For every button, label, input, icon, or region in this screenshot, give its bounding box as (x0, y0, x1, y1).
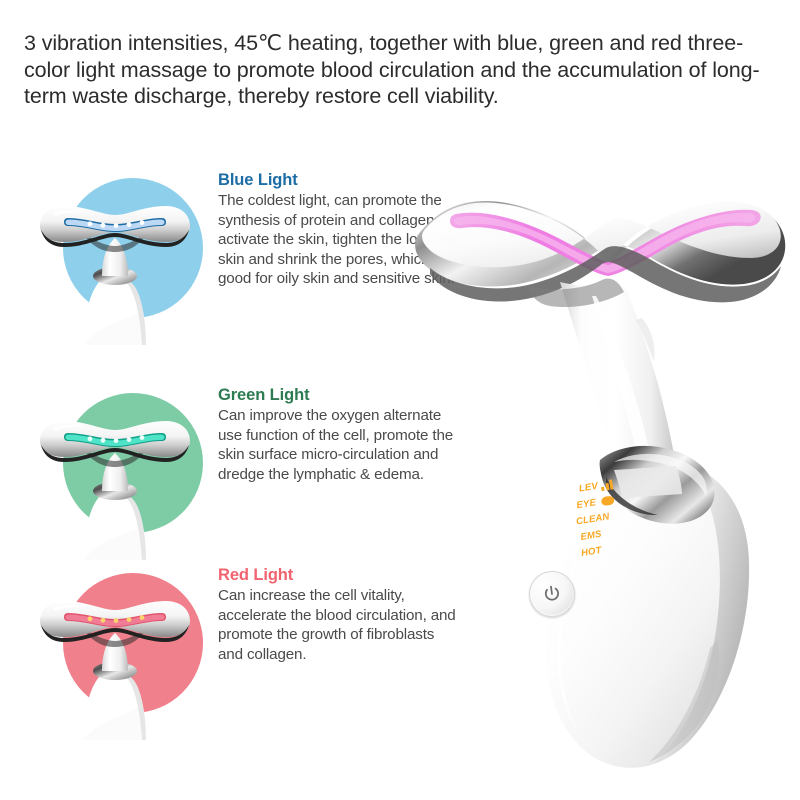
mini-device-illustration-green (28, 385, 203, 560)
device-illustration (400, 170, 800, 770)
mini-device-illustration-blue (28, 170, 203, 345)
product-infographic-page: 3 vibration intensities, 45℃ heating, to… (0, 0, 800, 800)
thumbnail-red-light (28, 565, 203, 740)
panel-label-hot: HOT (580, 545, 602, 559)
page-headline: 3 vibration intensities, 45℃ heating, to… (24, 30, 776, 110)
main-product-image: LEV EYE CLEAN EMS HOT (400, 170, 800, 770)
eye-icon (600, 495, 614, 506)
power-icon (541, 583, 564, 606)
thumbnail-blue-light (28, 170, 203, 345)
thumbnail-green-light (28, 385, 203, 560)
mini-device-illustration-red (28, 565, 203, 740)
panel-label-lev: LEV (578, 481, 599, 495)
panel-label-ems: EMS (580, 529, 603, 543)
level-bars-icon (600, 479, 613, 491)
panel-label-eye: EYE (576, 497, 597, 511)
